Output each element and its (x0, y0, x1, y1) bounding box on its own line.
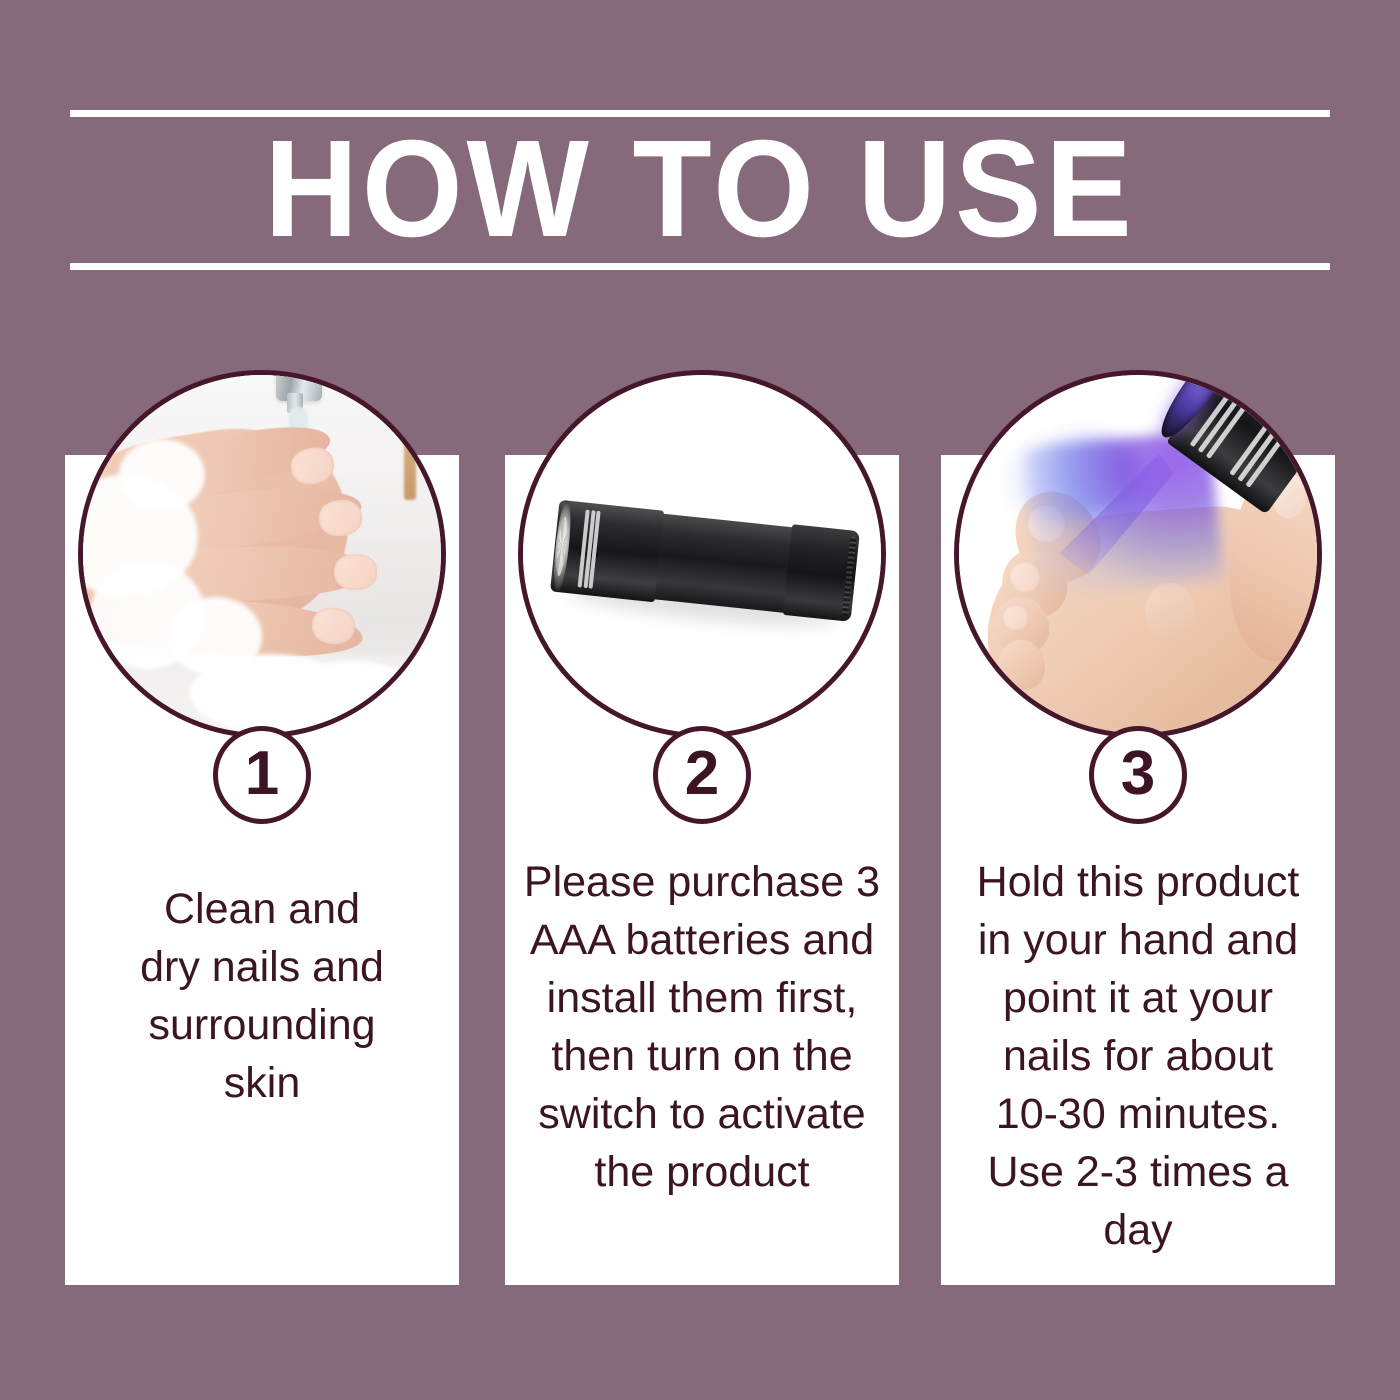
soap-suds (119, 439, 205, 511)
thumb-pressing-foot (1145, 583, 1195, 640)
steps-container: 1 Clean and dry nails and surrounding sk… (0, 0, 1400, 1400)
step-number-1: 1 (245, 743, 279, 805)
washing-hands-photo (78, 370, 446, 738)
uv-treatment-foot-photo (954, 370, 1322, 738)
uv-flashlight-photo-inner (523, 375, 881, 733)
flashlight-head (550, 500, 664, 603)
flashlight-led-lens (551, 500, 573, 594)
step-caption-2: Please purchase 3 AAA batteries and inst… (517, 853, 887, 1201)
step-number-badge-2: 2 (653, 726, 751, 824)
washing-hands-photo-inner (83, 375, 441, 733)
step-number-2: 2 (685, 743, 719, 805)
uv-flashlight-photo (518, 370, 886, 738)
step-number-badge-3: 3 (1089, 726, 1187, 824)
uv-treatment-foot-photo-inner (959, 375, 1317, 733)
infographic-page: HOW TO USE (0, 0, 1400, 1400)
step-number-3: 3 (1121, 743, 1155, 805)
step-number-badge-1: 1 (213, 726, 311, 824)
flashlight-tail-cap (783, 525, 860, 623)
wood-accent (404, 422, 416, 501)
fingernail (333, 554, 377, 591)
step-caption-3: Hold this product in your hand and point… (953, 853, 1323, 1259)
step-caption-1: Clean and dry nails and surrounding skin (77, 880, 447, 1112)
soap-suds (280, 661, 423, 733)
